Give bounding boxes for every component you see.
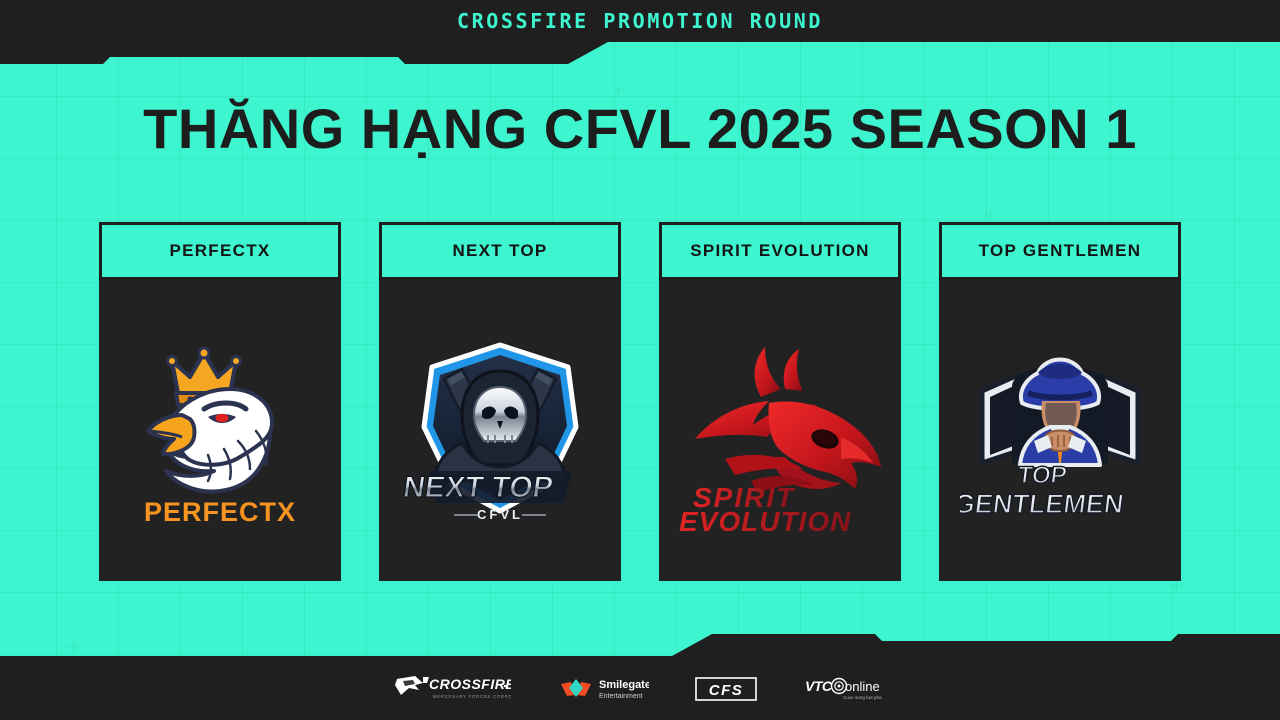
svg-text:VTC: VTC (805, 678, 833, 694)
team-name-box: NEXT TOP (379, 222, 621, 280)
svg-text:Cuoc song but pha: Cuoc song but pha (843, 695, 882, 700)
team-name-label: SPIRIT EVOLUTION (690, 241, 869, 261)
top-wordmark: TOP (1016, 462, 1068, 489)
smilegate-logo: Smilegate Entertainment (557, 673, 649, 705)
svg-text:MERCENARY FORCES CORPORATION: MERCENARY FORCES CORPORATION (433, 694, 511, 699)
svg-text:Smilegate: Smilegate (599, 679, 649, 691)
svg-text:CFVL: CFVL (477, 507, 523, 522)
svg-text:CROSSFIRE: CROSSFIRE (429, 676, 511, 692)
team-name-box: SPIRIT EVOLUTION (659, 222, 901, 280)
footer-logos: CROSSFIRE MERCENARY FORCES CORPORATION S… (0, 664, 1280, 714)
red-dragon-logo: SPIRIT EVOLUTION (665, 331, 895, 531)
team-name-box: TOP GENTLEMEN (939, 222, 1181, 280)
team-logo-panel: NEXT TOP CFVL (379, 280, 621, 581)
team-card-next-top[interactable]: NEXT TOP (379, 222, 621, 582)
header-bar: CROSSFIRE PROMOTION ROUND (0, 0, 1280, 42)
team-name-box: PERFECTX (99, 222, 341, 280)
team-card-top-gentlemen[interactable]: TOP GENTLEMEN (939, 222, 1181, 582)
team-name-label: TOP GENTLEMEN (979, 241, 1142, 261)
gentleman-hat-logo: TOP GENTLEMEN (960, 331, 1160, 531)
cfs-logo: CFS (695, 675, 757, 703)
teams-row: PERFECTX (0, 222, 1280, 582)
team-card-spirit-evolution[interactable]: SPIRIT EVOLUTION (659, 222, 901, 582)
page-title: THĂNG HẠNG CFVL 2025 SEASON 1 (0, 96, 1280, 161)
team-logo-panel: PERFECTX (99, 280, 341, 581)
evolution-wordmark: EVOLUTION (679, 506, 851, 531)
hooded-skull-guns-logo: NEXT TOP CFVL (400, 331, 600, 531)
vtc-online-logo: VTC online Cuoc song but pha (803, 674, 887, 704)
team-logo-panel: SPIRIT EVOLUTION (659, 280, 901, 581)
eagle-crown-logo: PERFECTX (120, 331, 320, 531)
team-logo-panel: TOP GENTLEMEN (939, 280, 1181, 581)
svg-text:Entertainment: Entertainment (599, 693, 643, 700)
svg-text:PERFECTX: PERFECTX (144, 497, 296, 527)
promo-graphic: CROSSFIRE PROMOTION ROUND THĂNG HẠNG CFV… (0, 0, 1280, 720)
team-name-label: PERFECTX (169, 241, 270, 261)
next-top-wordmark: NEXT TOP (401, 471, 555, 504)
svg-text:CFS: CFS (709, 682, 744, 699)
svg-text:online: online (845, 679, 880, 694)
team-card-perfectx[interactable]: PERFECTX (99, 222, 341, 582)
team-name-label: NEXT TOP (452, 241, 547, 261)
crossfire-logo: CROSSFIRE MERCENARY FORCES CORPORATION (393, 673, 511, 705)
header-title: CROSSFIRE PROMOTION ROUND (457, 9, 823, 33)
gentlemen-wordmark: GENTLEMEN (960, 488, 1125, 519)
